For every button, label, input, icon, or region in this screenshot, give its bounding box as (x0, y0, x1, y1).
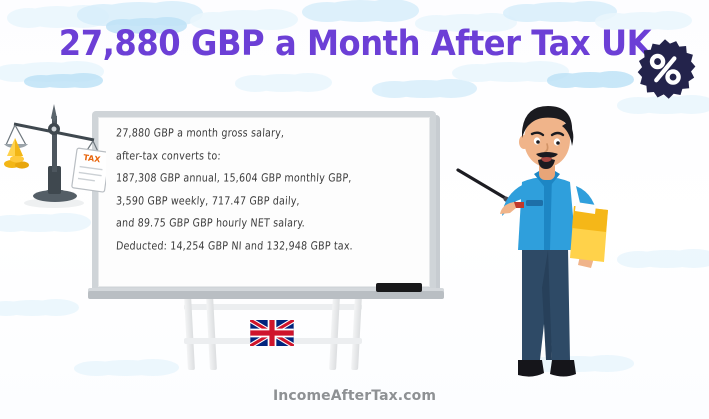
footer: IncomeAfterTax.com (0, 387, 709, 405)
percent-badge (634, 38, 696, 100)
cloud-icon (388, 80, 460, 98)
scales-icon: TAX (2, 98, 106, 210)
cloud-icon (4, 214, 74, 232)
whiteboard-line-6: Deducted: 14,254 GBP NI and 132,948 GBP … (116, 241, 417, 252)
ear (519, 135, 529, 149)
whiteboard-line-4: 3,590 GBP weekly, 717.47 GBP daily, (116, 196, 417, 207)
whiteboard-tray (88, 291, 444, 299)
folder-icon (570, 202, 608, 262)
cloud-icon (90, 360, 162, 376)
whiteboard-line-5: and 89.75 GBP GBP hourly NET salary. (116, 218, 417, 229)
cloud-icon (250, 74, 316, 92)
shoe-right-icon (550, 360, 576, 377)
cloud-icon (560, 72, 620, 88)
cloud-icon (632, 250, 702, 268)
infographic-page: 27,880 GBP a Month After Tax UK (0, 0, 709, 419)
whiteboard-line-1: 27,880 GBP a month gross salary, (116, 128, 417, 139)
teacher-figure (456, 98, 636, 388)
balance-scales-illustration: TAX (2, 98, 106, 210)
cloud-icon (470, 62, 550, 82)
cloud-icon (320, 0, 400, 22)
percent-badge-icon (634, 38, 696, 100)
teacher-illustration (456, 98, 636, 388)
whiteboard-line-2: after-tax converts to: (116, 151, 417, 162)
whiteboard-stand (178, 296, 368, 374)
whiteboard-surface: 27,880 GBP a month gross salary, after-t… (98, 117, 430, 287)
cloud-icon (520, 2, 598, 22)
page-title: 27,880 GBP a Month After Tax UK (58, 24, 650, 64)
shoe-left-icon (518, 360, 544, 377)
whiteboard: 27,880 GBP a month gross salary, after-t… (92, 111, 436, 293)
whiteboard-line-3: 187,308 GBP annual, 15,604 GBP monthly G… (116, 173, 417, 184)
page-title-container: 27,880 GBP a Month After Tax UK (0, 24, 709, 64)
shirt-pocket (526, 200, 543, 206)
cloud-icon (0, 300, 64, 316)
uk-flag (250, 320, 294, 346)
cloud-icon (36, 74, 90, 88)
hand-left (500, 202, 516, 214)
whiteboard-eraser (376, 283, 422, 292)
site-name: IncomeAfterTax.com (273, 388, 436, 404)
